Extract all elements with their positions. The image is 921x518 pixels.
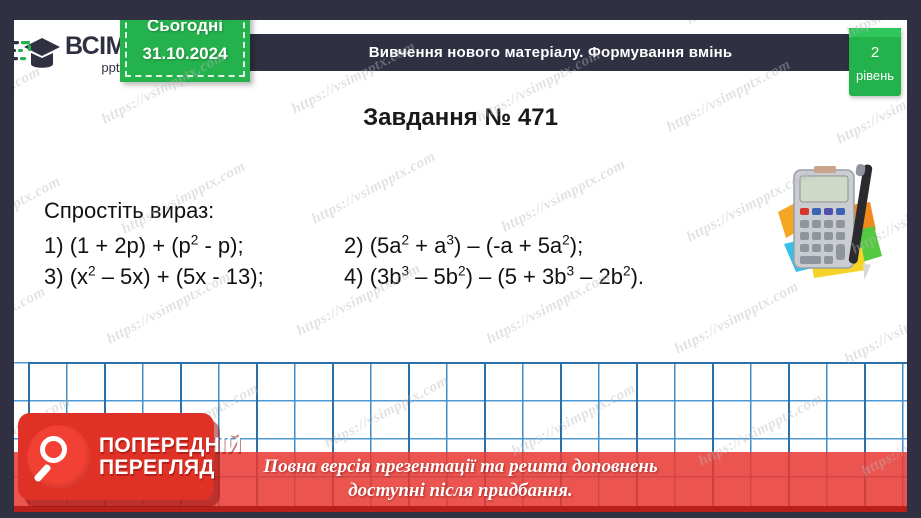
lesson-stage-bar: Вивчення нового матеріалу. Формування вм… bbox=[250, 34, 851, 71]
preview-button-line1: ПОПЕРЕДНІЙ bbox=[99, 435, 242, 457]
equation-item: 3) (x2 – 5x) + (5x - 13); bbox=[44, 261, 344, 292]
equation-row-1: 1) (1 + 2p) + (p2 - p); 2) (5a2 + a3) – … bbox=[44, 230, 704, 261]
date-badge-value: 31.10.2024 bbox=[142, 40, 227, 68]
equation-expression: (x2 – 5x) + (5x - 13); bbox=[70, 264, 264, 289]
difficulty-level-badge: 2 рівень bbox=[849, 28, 901, 96]
task-instruction: Спростіть вираз: bbox=[44, 195, 704, 226]
level-badge-number: 2 bbox=[849, 44, 901, 61]
equation-item: 1) (1 + 2p) + (p2 - p); bbox=[44, 230, 344, 261]
equation-row-2: 3) (x2 – 5x) + (5x - 13); 4) (3b3 – 5b2)… bbox=[44, 261, 704, 292]
preview-button[interactable]: ПОПЕРЕДНІЙ ПЕРЕГЛЯД bbox=[18, 413, 214, 500]
grid-top-border-line bbox=[28, 362, 907, 364]
lesson-stage-title: Вивчення нового матеріалу. Формування вм… bbox=[369, 44, 733, 61]
slide-root: ВСІМ pptx Сьогодні 31.10.2024 Вивчення н… bbox=[0, 0, 921, 518]
equation-expression: (5a2 + a3) – (-a + 5a2); bbox=[370, 233, 584, 258]
preview-button-line2: ПЕРЕГЛЯД bbox=[99, 457, 242, 479]
frame-top-border bbox=[0, 0, 921, 20]
brand-logo: ВСІМ pptx bbox=[6, 28, 126, 80]
task-content: Спростіть вираз: 1) (1 + 2p) + (p2 - p);… bbox=[44, 195, 704, 293]
level-badge-label: рівень bbox=[849, 68, 901, 83]
frame-bottom-border bbox=[0, 512, 921, 518]
purchase-notice-line2: доступні після придбання. bbox=[348, 479, 572, 503]
frame-left-border bbox=[0, 0, 14, 518]
equation-number: 1) bbox=[44, 233, 64, 258]
magnifier-icon bbox=[27, 425, 91, 489]
equation-number: 4) bbox=[344, 264, 364, 289]
equation-number: 3) bbox=[44, 264, 64, 289]
equation-item: 4) (3b3 – 5b2) – (5 + 3b3 – 2b2). bbox=[344, 261, 704, 292]
purchase-notice-line1: Повна версія презентації та решта доповн… bbox=[263, 455, 657, 479]
frame-right-border bbox=[907, 0, 921, 518]
equation-item: 2) (5a2 + a3) – (-a + 5a2); bbox=[344, 230, 704, 261]
equation-expression: (3b3 – 5b2) – (5 + 3b3 – 2b2). bbox=[370, 264, 644, 289]
logo-title: ВСІМ bbox=[65, 34, 126, 59]
task-title: Завдання № 471 bbox=[0, 104, 921, 132]
equation-number: 2) bbox=[344, 233, 364, 258]
calculator-and-pen-icon bbox=[770, 152, 900, 284]
logo-subtitle: pptx bbox=[65, 61, 126, 74]
level-badge-cap bbox=[849, 28, 901, 37]
graduation-cap-icon bbox=[6, 33, 60, 75]
equation-expression: (1 + 2p) + (p2 - p); bbox=[70, 233, 244, 258]
